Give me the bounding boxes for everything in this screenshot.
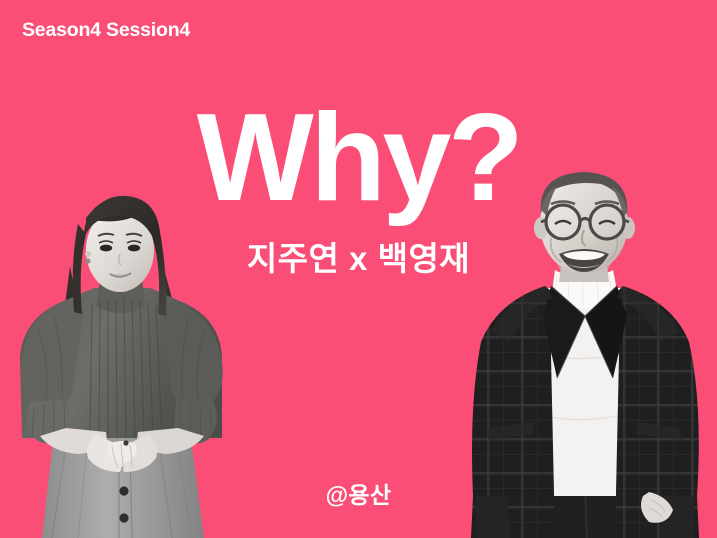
man-face: [534, 172, 635, 282]
presentation-slide: Season4 Session4: [0, 0, 717, 538]
woman-sweater: [20, 280, 223, 454]
location-handle: @용산: [0, 476, 717, 510]
season-session-label: Season4 Session4: [22, 20, 190, 41]
